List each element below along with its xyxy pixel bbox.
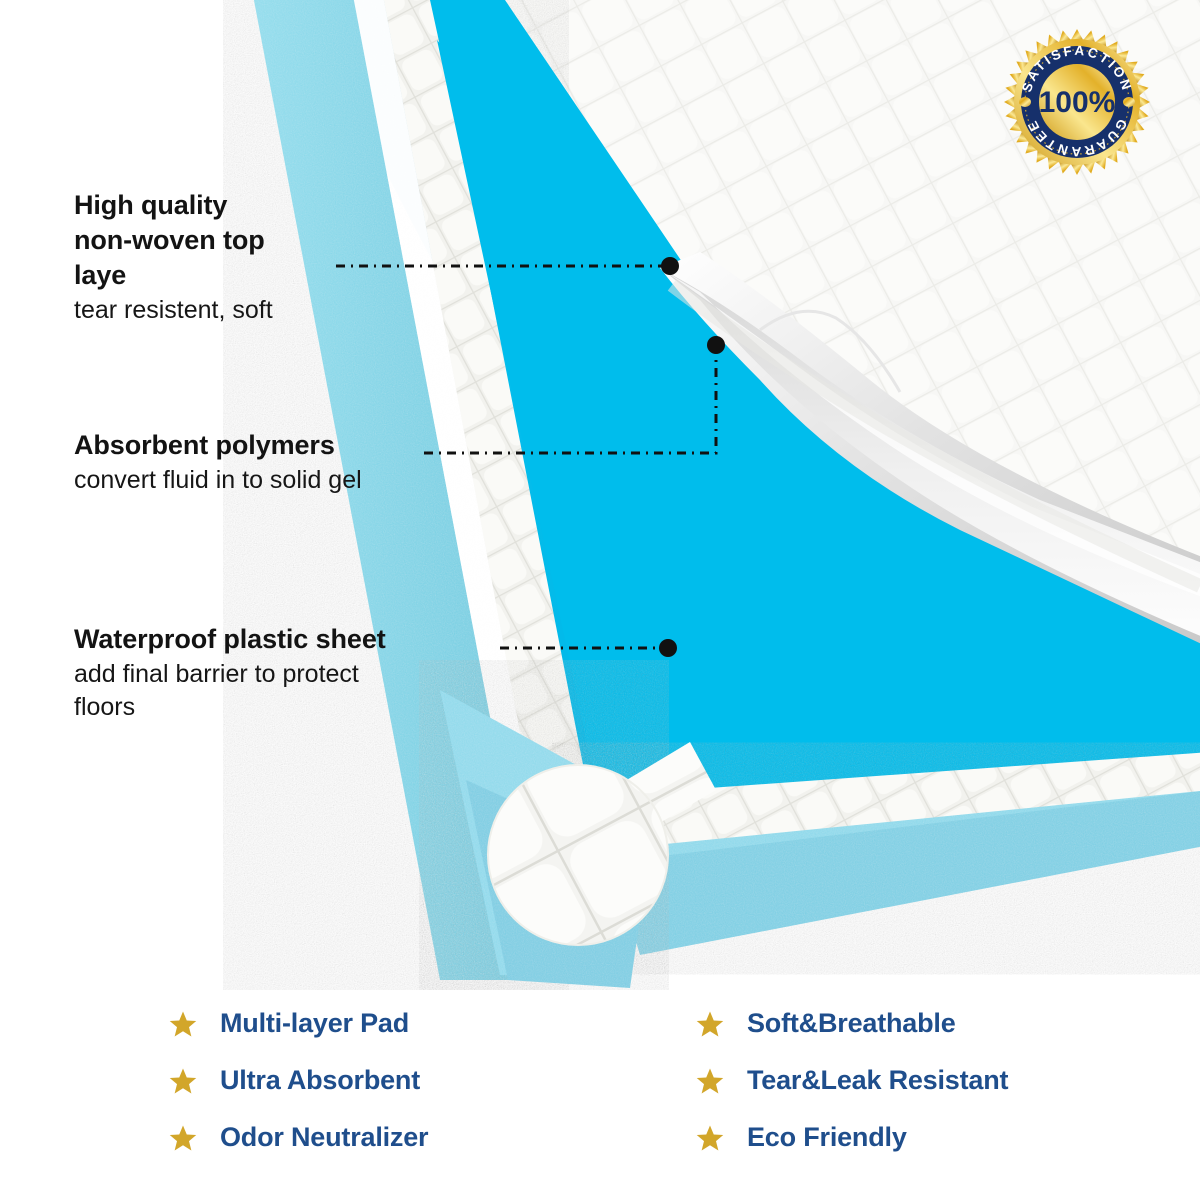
feature-column-right: Soft&Breathable Tear&Leak Resistant Eco … bbox=[695, 995, 1008, 1166]
callout-3-subtitle: add final barrier to protect floors bbox=[74, 658, 494, 723]
feature-item-multi-layer-pad: Multi-layer Pad bbox=[168, 995, 428, 1052]
callout-non-woven-top-layer: High quality non-woven top laye tear res… bbox=[74, 188, 344, 327]
satisfaction-guarantee-badge: SATISFACTION GUARANTEE 100% bbox=[1003, 28, 1151, 176]
feature-column-left: Multi-layer Pad Ultra Absorbent Odor Neu… bbox=[168, 995, 428, 1166]
callout-1-subtitle: tear resistent, soft bbox=[74, 294, 344, 327]
star-icon bbox=[695, 1066, 725, 1096]
star-icon bbox=[168, 1123, 198, 1153]
feature-label: Odor Neutralizer bbox=[220, 1122, 428, 1153]
feature-label: Eco Friendly bbox=[747, 1122, 907, 1153]
feature-list: Multi-layer Pad Ultra Absorbent Odor Neu… bbox=[0, 995, 1200, 1200]
product-infographic: High quality non-woven top laye tear res… bbox=[0, 0, 1200, 1200]
feature-label: Multi-layer Pad bbox=[220, 1008, 409, 1039]
feature-label: Tear&Leak Resistant bbox=[747, 1065, 1008, 1096]
feature-item-odor-neutralizer: Odor Neutralizer bbox=[168, 1109, 428, 1166]
feature-label: Ultra Absorbent bbox=[220, 1065, 420, 1096]
star-icon bbox=[168, 1066, 198, 1096]
callout-2-subtitle: convert fluid in to solid gel bbox=[74, 464, 504, 497]
callout-1-title: High quality non-woven top laye bbox=[74, 188, 344, 293]
feature-item-ultra-absorbent: Ultra Absorbent bbox=[168, 1052, 428, 1109]
badge-center-text: 100% bbox=[1039, 86, 1116, 119]
feature-label: Soft&Breathable bbox=[747, 1008, 956, 1039]
callout-waterproof-plastic-sheet: Waterproof plastic sheet add final barri… bbox=[74, 622, 494, 723]
feature-item-tear-leak-resistant: Tear&Leak Resistant bbox=[695, 1052, 1008, 1109]
feature-item-soft-breathable: Soft&Breathable bbox=[695, 995, 1008, 1052]
star-icon bbox=[695, 1009, 725, 1039]
star-icon bbox=[168, 1009, 198, 1039]
feature-item-eco-friendly: Eco Friendly bbox=[695, 1109, 1008, 1166]
star-icon bbox=[695, 1123, 725, 1153]
callout-2-title: Absorbent polymers bbox=[74, 428, 504, 463]
callout-absorbent-polymers: Absorbent polymers convert fluid in to s… bbox=[74, 428, 504, 497]
callout-3-title: Waterproof plastic sheet bbox=[74, 622, 494, 657]
